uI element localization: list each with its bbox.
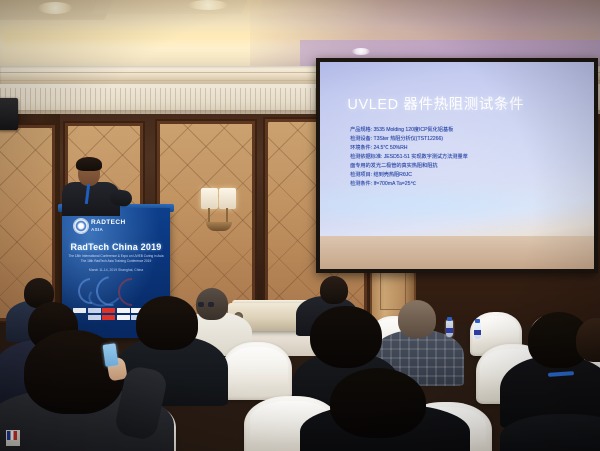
- sconce-base: [206, 222, 232, 231]
- person-head: [398, 300, 436, 338]
- conference-photo-scene: UVLED 器件热阻测试条件 产品规格: 3535 Molding 120度IC…: [0, 0, 600, 451]
- sponsor-logo: [88, 315, 101, 320]
- logo-line-1: RADTECH: [91, 220, 126, 227]
- wall-speaker-icon: [0, 98, 18, 130]
- sponsor-logo: [102, 308, 115, 313]
- sponsor-logo: [117, 308, 130, 313]
- bottle-label: [474, 330, 481, 335]
- person-head: [310, 306, 382, 368]
- water-bottle: [446, 320, 453, 337]
- slide-body: 产品规格: 3535 Molding 120度ICP氮化铝基板 检测设备: T3…: [350, 126, 575, 189]
- event-date: March 11-14, 2019 Shanghai, China: [68, 268, 164, 272]
- smartphone[interactable]: [103, 343, 119, 367]
- sconce-shade: [201, 188, 218, 209]
- slide-title: UVLED 器件热阻测试条件: [347, 93, 577, 114]
- sponsor-logo: [73, 308, 86, 313]
- screen-surface: UVLED 器件热阻测试条件 产品规格: 3535 Molding 120度IC…: [320, 62, 594, 269]
- ceiling-light-icon: [38, 2, 72, 14]
- bottle-cap: [475, 319, 480, 323]
- bottle-label: [446, 328, 453, 333]
- sponsor-logo: [117, 315, 130, 320]
- projection-screen: UVLED 器件热阻测试条件 产品规格: 3535 Molding 120度IC…: [316, 58, 598, 273]
- person-head: [320, 276, 348, 304]
- event-title: RadTech China 2019: [62, 242, 170, 252]
- slide-line: 产品规格: 3535 Molding 120度ICP氮化铝基板: [350, 126, 575, 135]
- person-head: [330, 368, 426, 438]
- water-bottle: [474, 322, 481, 339]
- chair: [222, 342, 292, 400]
- sponsor-logo: [102, 315, 115, 320]
- logo-line-2: ASIA: [91, 227, 126, 232]
- badge-flag-icon: [7, 431, 17, 440]
- event-subtitle: The 18th International Conference & Expo…: [68, 254, 164, 264]
- radtech-emblem-icon: [74, 219, 88, 233]
- sconce-shade: [219, 188, 236, 209]
- bottle-cap: [447, 317, 452, 321]
- sponsor-logo: [88, 308, 101, 313]
- swoosh-graphic: [76, 274, 156, 304]
- slide-line: 面专用的发光二极管的真实热阻和阻抗: [350, 162, 575, 171]
- radtech-logo: RADTECH ASIA: [74, 216, 158, 236]
- slide-line: 检测设备: T3Ster 热阻分析仪(TST12266): [350, 135, 575, 144]
- slide-line: 检测项目: 结到壳热阻RθJC: [350, 171, 575, 180]
- speaker-hair: [76, 157, 102, 171]
- downlight-icon: [352, 48, 370, 55]
- sunglasses-icon: [198, 302, 214, 307]
- ceiling-light-icon: [188, 0, 228, 10]
- slide-line: 检测依据标准: JESD51-51 实现数字测试方法测量萃: [350, 153, 575, 162]
- wall-sconce: [200, 188, 240, 236]
- person-head: [136, 296, 198, 350]
- screen-hotspot: [320, 182, 594, 228]
- slide-line: 环境条件: 24.5℃ 50%RH: [350, 144, 575, 153]
- screen-lower-band: [320, 236, 594, 269]
